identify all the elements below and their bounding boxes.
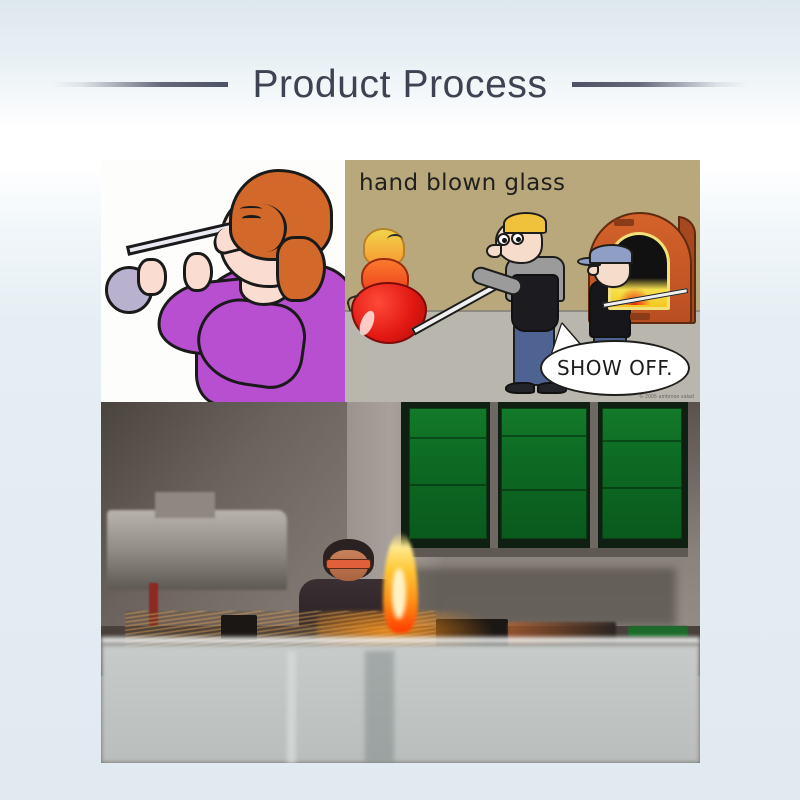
green-shuttered-window (401, 402, 689, 557)
product-process-gallery: hand blown glass (101, 160, 700, 763)
window-mullion-1 (490, 402, 498, 548)
right-decorative-rule (572, 82, 748, 87)
helper-nose (587, 265, 599, 276)
gallery-top-row: hand blown glass (101, 160, 700, 402)
hand-blown-glass-comic-image: hand blown glass (345, 160, 700, 402)
glass-workshop-photo-image (101, 402, 700, 763)
eyebrow-shape (240, 206, 262, 212)
speech-bubble-text: SHOW OFF. (557, 356, 673, 380)
speech-bubble: SHOW OFF. (540, 340, 690, 396)
worker-safety-goggles (326, 559, 370, 568)
blower-eye-left (497, 233, 510, 246)
helper-cap (589, 244, 633, 264)
page-title: Product Process (252, 65, 547, 104)
page-header: Product Process (0, 0, 800, 150)
counter-seam (365, 651, 395, 763)
window-pane-1 (409, 408, 487, 540)
motion-line-top (387, 234, 403, 246)
right-hand-shape (183, 252, 213, 292)
blower-shoe-left (505, 382, 535, 394)
furnace-vent-bottom (630, 313, 650, 320)
window-pane-3 (602, 408, 683, 540)
cartoon-woman-glassblower-image (101, 160, 345, 402)
comic-credit-watermark: © 2005 ambrose salad (640, 394, 694, 400)
blower-nose (486, 244, 502, 258)
comic-caption: hand blown glass (359, 170, 565, 196)
foreground-counter (101, 644, 700, 763)
eye-shape (242, 215, 261, 222)
window-mullion-2 (590, 402, 598, 548)
counter-edge (101, 637, 700, 644)
blower-eye-right (511, 232, 524, 245)
furnace-vent-top (614, 219, 634, 226)
green-hose (628, 626, 688, 637)
window-pane-2 (501, 408, 587, 540)
background-machine-top (155, 492, 215, 517)
background-machine (107, 510, 287, 589)
left-decorative-rule (52, 82, 228, 87)
counter-seam-light (287, 651, 296, 763)
title-row: Product Process (0, 58, 800, 110)
blower-hair (503, 212, 547, 234)
left-hand-shape (137, 258, 167, 296)
